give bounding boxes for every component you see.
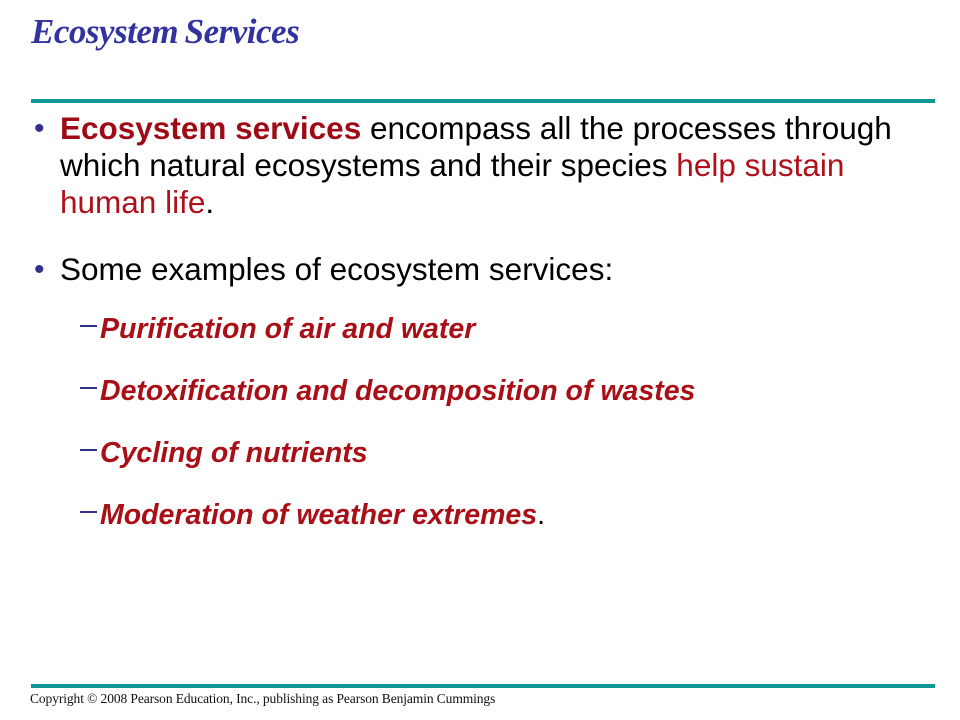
page-title: Ecosystem Services [31,11,911,53]
sub-bullet-4-label: Moderation of weather extremes [100,499,537,531]
sub-bullet-3-label: Cycling of nutrients [100,437,368,469]
list-item: • Some examples of ecosystem services: [28,251,933,289]
bullet-dot-icon: • [28,110,60,148]
slide-body: • Ecosystem services encompass all the p… [28,110,933,559]
sub-bullet-1-label: Purification of air and water [100,313,475,345]
bullet-text-1: Ecosystem services encompass all the pro… [60,110,933,221]
list-item: Detoxification and decomposition of wast… [28,373,933,409]
list-item: • Ecosystem services encompass all the p… [28,110,933,221]
divider-bottom [31,684,935,688]
sub-bullet-4-tail: . [537,499,545,531]
sub-bullet-2-label: Detoxification and decomposition of wast… [100,375,695,407]
sub-bullet-text-4: Moderation of weather extremes. [100,497,800,533]
sub-bullet-text-1: Purification of air and water [100,311,800,347]
sub-bullet-list: Purification of air and water Detoxifica… [28,311,933,533]
sub-bullet-text-3: Cycling of nutrients [100,435,800,471]
sub-bullet-text-2: Detoxification and decomposition of wast… [100,373,800,409]
bullet-dash-icon [28,497,100,513]
bullet-1-period: . [205,184,214,220]
bullet-dash-icon [28,373,100,389]
bullet-dash-icon [28,311,100,327]
bullet-text-2: Some examples of ecosystem services: [60,251,933,288]
slide-canvas: Ecosystem Services • Ecosystem services … [0,0,960,720]
bullet-1-emphasis: Ecosystem services [60,110,361,146]
copyright-notice: Copyright © 2008 Pearson Education, Inc.… [30,690,495,708]
list-item: Moderation of weather extremes. [28,497,933,533]
list-item: Purification of air and water [28,311,933,347]
bullet-dot-icon: • [28,251,60,289]
bullet-dash-icon [28,435,100,451]
divider-top [31,99,935,103]
list-item: Cycling of nutrients [28,435,933,471]
